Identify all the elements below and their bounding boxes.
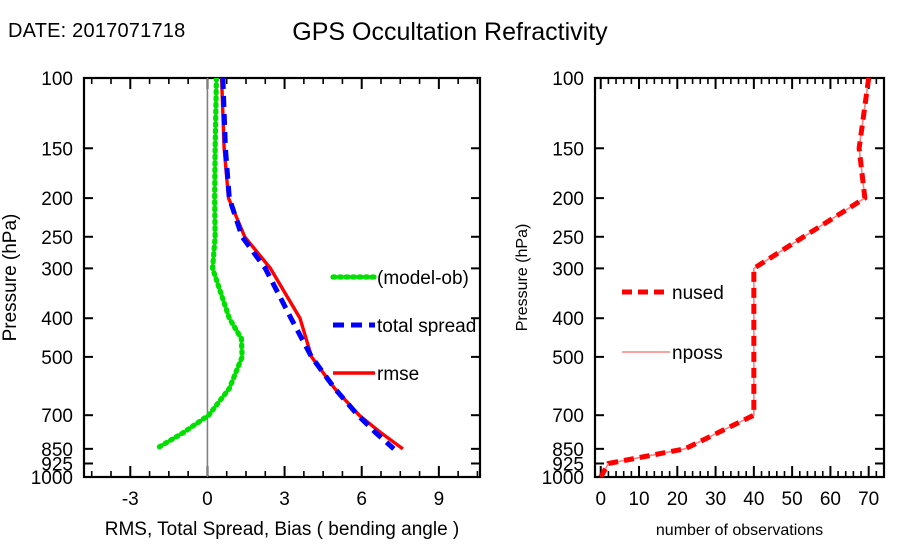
x-tick-label: 6	[356, 489, 367, 510]
series-line-nused	[601, 78, 869, 477]
y-tick-label: 500	[41, 348, 73, 369]
x-tick-label: 10	[628, 489, 649, 510]
x-tick-label: 20	[667, 489, 688, 510]
y-axis-title: Pressure (hPa)	[0, 214, 21, 342]
x-tick-label: 40	[743, 489, 764, 510]
y-tick-label: 500	[552, 348, 584, 369]
plot-frame-right	[595, 78, 884, 477]
legend-label-rmse: rmse	[377, 364, 419, 385]
x-tick-label: -3	[122, 489, 139, 510]
y-tick-label: 100	[552, 69, 584, 90]
series-line-nposs	[601, 78, 869, 477]
x-tick-label: 0	[595, 489, 606, 510]
y-tick-label: 200	[41, 189, 73, 210]
y-tick-label: 250	[41, 228, 73, 249]
x-tick-label: 60	[820, 489, 841, 510]
y-tick-label: 700	[41, 406, 73, 427]
series-line-rmse	[222, 78, 403, 449]
panel-right: 1001502002503004005007008509251000010203…	[514, 69, 884, 539]
y-tick-label: 150	[41, 139, 73, 160]
legend-label-total-spread: total spread	[377, 316, 476, 337]
panel-left: 1001502002503004005007008509251000-30369…	[0, 69, 480, 540]
y-tick-label: 400	[552, 309, 584, 330]
y-tick-label: 400	[41, 309, 73, 330]
y-tick-label: 1000	[31, 468, 73, 489]
y-axis-title: Pressure (hPa)	[514, 224, 531, 332]
x-tick-label: 9	[434, 489, 445, 510]
series-line--model-ob-	[156, 78, 242, 449]
y-tick-label: 200	[552, 189, 584, 210]
y-tick-label: 700	[552, 406, 584, 427]
y-tick-label: 250	[552, 228, 584, 249]
chart-page: DATE: 2017071718 GPS Occultation Refract…	[0, 0, 900, 560]
legend-label-nposs: nposs	[672, 343, 723, 364]
x-tick-label: 0	[202, 489, 213, 510]
x-tick-label: 50	[782, 489, 803, 510]
series-line-total-spread	[223, 78, 394, 449]
y-tick-label: 300	[552, 259, 584, 280]
plots-canvas: 1001502002503004005007008509251000-30369…	[0, 0, 900, 560]
x-tick-label: 30	[705, 489, 726, 510]
legend-label--model-ob-: (model-ob)	[377, 268, 469, 289]
y-tick-label: 150	[552, 139, 584, 160]
y-tick-label: 300	[41, 259, 73, 280]
legend-label-nused: nused	[672, 283, 724, 304]
x-axis-title: number of observations	[656, 522, 823, 539]
x-tick-label: 3	[279, 489, 290, 510]
x-tick-label: 70	[858, 489, 879, 510]
legend-right: nusednposs	[622, 283, 724, 364]
y-tick-label: 100	[41, 69, 73, 90]
y-tick-label: 1000	[542, 468, 584, 489]
x-axis-title: RMS, Total Spread, Bias ( bending angle …	[105, 519, 460, 540]
legend-left: (model-ob)total spreadrmse	[333, 268, 476, 385]
